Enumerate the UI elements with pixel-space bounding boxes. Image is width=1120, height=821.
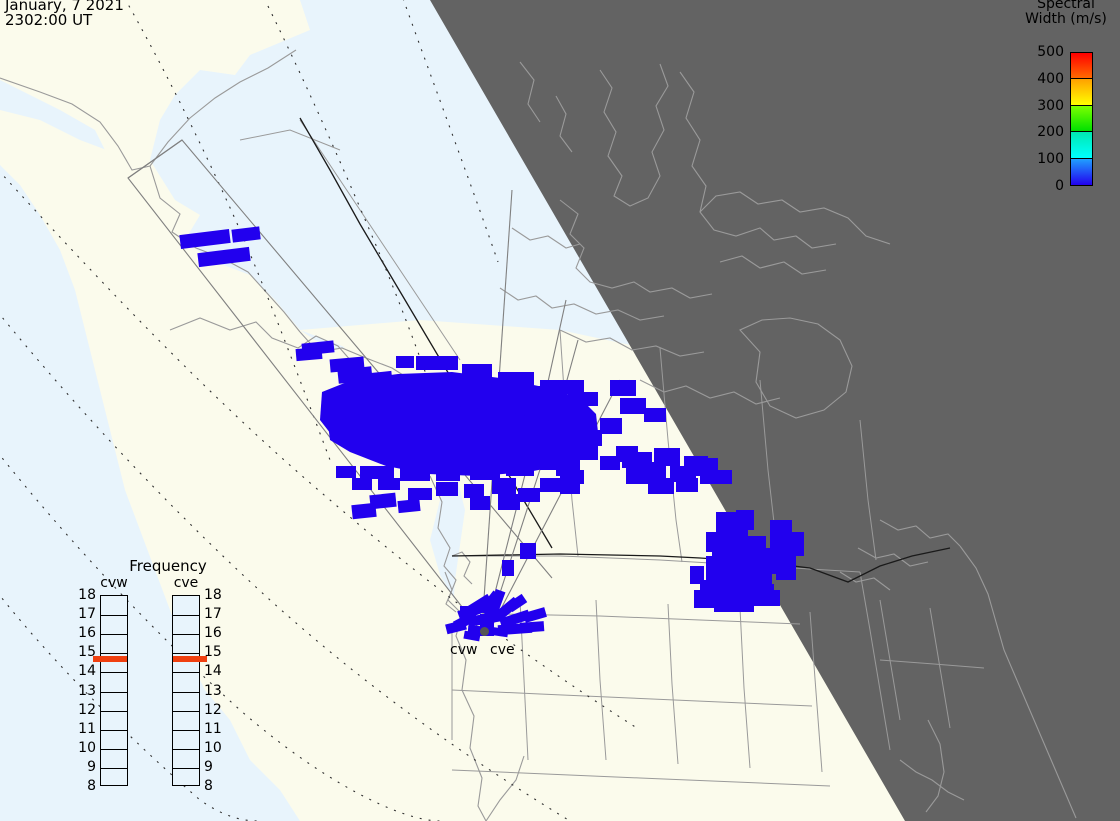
gauge-gridline: [173, 730, 199, 731]
frequency-tick-11: 11: [70, 722, 96, 736]
frequency-tick-9: 9: [204, 760, 230, 774]
gauge-gridline: [101, 653, 127, 654]
gauge-gridline: [173, 615, 199, 616]
gauge-gridline: [173, 634, 199, 635]
timestamp-label: January, 7 2021 2302:00 UT: [5, 0, 124, 28]
colorbar-title: Spectral Width (m/s): [1012, 0, 1120, 27]
colorbar-segment-3: [1071, 132, 1092, 158]
colorbar-gradient-bar: [1070, 52, 1093, 186]
gauge-gridline: [101, 768, 127, 769]
colorbar-tick-0: 0: [1012, 179, 1064, 193]
colorbar-title-line2: Width (m/s): [1012, 12, 1120, 27]
frequency-tick-14: 14: [204, 664, 230, 678]
frequency-tick-15: 15: [70, 645, 96, 659]
colorbar: Spectral Width (m/s) 5004003002001000: [1012, 0, 1120, 200]
frequency-marker-cvw: [93, 656, 127, 662]
colorbar-tick-400: 400: [1012, 72, 1064, 86]
time-text: 2302:00 UT: [5, 13, 124, 28]
radar-site-label-cvw: cvw: [450, 643, 477, 657]
gauge-gridline: [173, 692, 199, 693]
frequency-gauge-cvw[interactable]: [100, 595, 128, 786]
gauge-gridline: [173, 749, 199, 750]
gauge-gridline: [101, 615, 127, 616]
frequency-tick-9: 9: [70, 760, 96, 774]
superdarn-map-view: January, 7 2021 2302:00 UT Spectral Widt…: [0, 0, 1120, 821]
frequency-tick-17: 17: [204, 607, 230, 621]
frequency-tick-8: 8: [204, 779, 230, 793]
frequency-tick-12: 12: [204, 703, 230, 717]
gauge-gridline: [101, 711, 127, 712]
gauge-gridline: [173, 672, 199, 673]
gauge-gridline: [173, 768, 199, 769]
gauge-label-cve: cve: [166, 576, 206, 591]
gauge-gridline: [101, 749, 127, 750]
radar-site-dot: [480, 627, 489, 636]
frequency-tick-13: 13: [204, 684, 230, 698]
frequency-tick-8: 8: [70, 779, 96, 793]
gauge-gridline: [173, 653, 199, 654]
frequency-tick-18: 18: [204, 588, 230, 602]
colorbar-tick-100: 100: [1012, 152, 1064, 166]
colorbar-segment-4: [1071, 159, 1092, 185]
colorbar-ticks: 5004003002001000: [1012, 42, 1064, 196]
colorbar-tick-300: 300: [1012, 99, 1064, 113]
colorbar-segment-2: [1071, 106, 1092, 132]
radar-site-label-cve: cve: [490, 643, 515, 657]
frequency-tick-10: 10: [70, 741, 96, 755]
frequency-tick-16: 16: [204, 626, 230, 640]
frequency-tick-12: 12: [70, 703, 96, 717]
frequency-panel: Frequency cvw 18171615141312111098 cve 1…: [88, 558, 248, 783]
frequency-tick-18: 18: [70, 588, 96, 602]
gauge-gridline: [101, 692, 127, 693]
frequency-panel-title: Frequency: [88, 558, 248, 574]
gauge-gridline: [101, 634, 127, 635]
colorbar-tick-200: 200: [1012, 125, 1064, 139]
colorbar-segment-1: [1071, 79, 1092, 105]
gauge-label-cvw: cvw: [94, 576, 134, 591]
gauge-gridline: [173, 711, 199, 712]
colorbar-segment-0: [1071, 53, 1092, 79]
frequency-tick-11: 11: [204, 722, 230, 736]
frequency-tick-10: 10: [204, 741, 230, 755]
frequency-tick-15: 15: [204, 645, 230, 659]
gauge-gridline: [101, 730, 127, 731]
frequency-tick-13: 13: [70, 684, 96, 698]
frequency-tick-14: 14: [70, 664, 96, 678]
gauge-gridline: [101, 672, 127, 673]
frequency-gauge-cve[interactable]: [172, 595, 200, 786]
frequency-tick-17: 17: [70, 607, 96, 621]
frequency-marker-cve: [173, 656, 207, 662]
colorbar-tick-500: 500: [1012, 45, 1064, 59]
frequency-tick-16: 16: [70, 626, 96, 640]
